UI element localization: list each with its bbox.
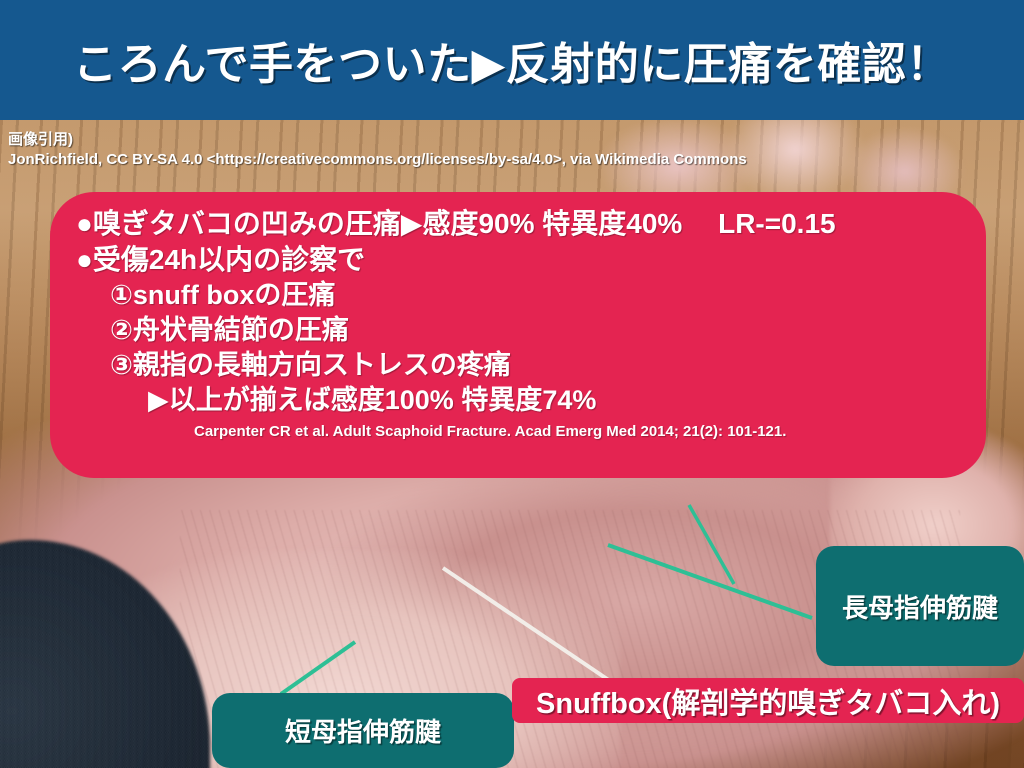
clinical-findings-panel: ●嗅ぎタバコの凹みの圧痛▶感度90% 特異度40% LR-=0.15 ●受傷24… <box>50 192 986 478</box>
attribution-line-2: JonRichfield, CC BY-SA 4.0 <https://crea… <box>8 150 1018 170</box>
header-bar: ころんで手をついた▶反射的に圧痛を確認！ <box>0 0 1024 120</box>
page-title: ころんで手をついた▶反射的に圧痛を確認！ <box>73 28 951 92</box>
slide-canvas: ころんで手をついた▶反射的に圧痛を確認！ 画像引用) JonRichfield,… <box>0 0 1024 768</box>
finding-item-3: ③親指の長軸方向ストレスの疼痛 <box>76 348 960 383</box>
label-epb-text: 短母指伸筋腱 <box>285 712 441 749</box>
clinical-findings-content: ●嗅ぎタバコの凹みの圧痛▶感度90% 特異度40% LR-=0.15 ●受傷24… <box>50 192 986 478</box>
finding-bullet-2: ●受傷24h以内の診察で <box>76 242 960 278</box>
reference-citation: Carpenter CR et al. Adult Scaphoid Fract… <box>76 418 960 443</box>
label-snuffbox-text: Snuffbox(解剖学的嗅ぎタバコ入れ) <box>536 680 1000 722</box>
label-snuffbox: Snuffbox(解剖学的嗅ぎタバコ入れ) <box>512 678 1024 723</box>
finding-item-2: ②舟状骨結節の圧痛 <box>76 313 960 348</box>
label-epl-text: 長母指伸筋腱 <box>842 588 998 625</box>
finding-bullet-1: ●嗅ぎタバコの凹みの圧痛▶感度90% 特異度40% LR-=0.15 <box>76 206 960 242</box>
label-extensor-pollicis-brevis: 短母指伸筋腱 <box>212 693 514 768</box>
label-extensor-pollicis-longus: 長母指伸筋腱 <box>816 546 1024 666</box>
finding-item-1: ①snuff boxの圧痛 <box>76 278 960 313</box>
finding-conclusion: ▶以上が揃えば感度100% 特異度74% <box>76 383 960 418</box>
attribution-line-1: 画像引用) <box>8 130 1018 150</box>
image-attribution: 画像引用) JonRichfield, CC BY-SA 4.0 <https:… <box>8 130 1018 170</box>
